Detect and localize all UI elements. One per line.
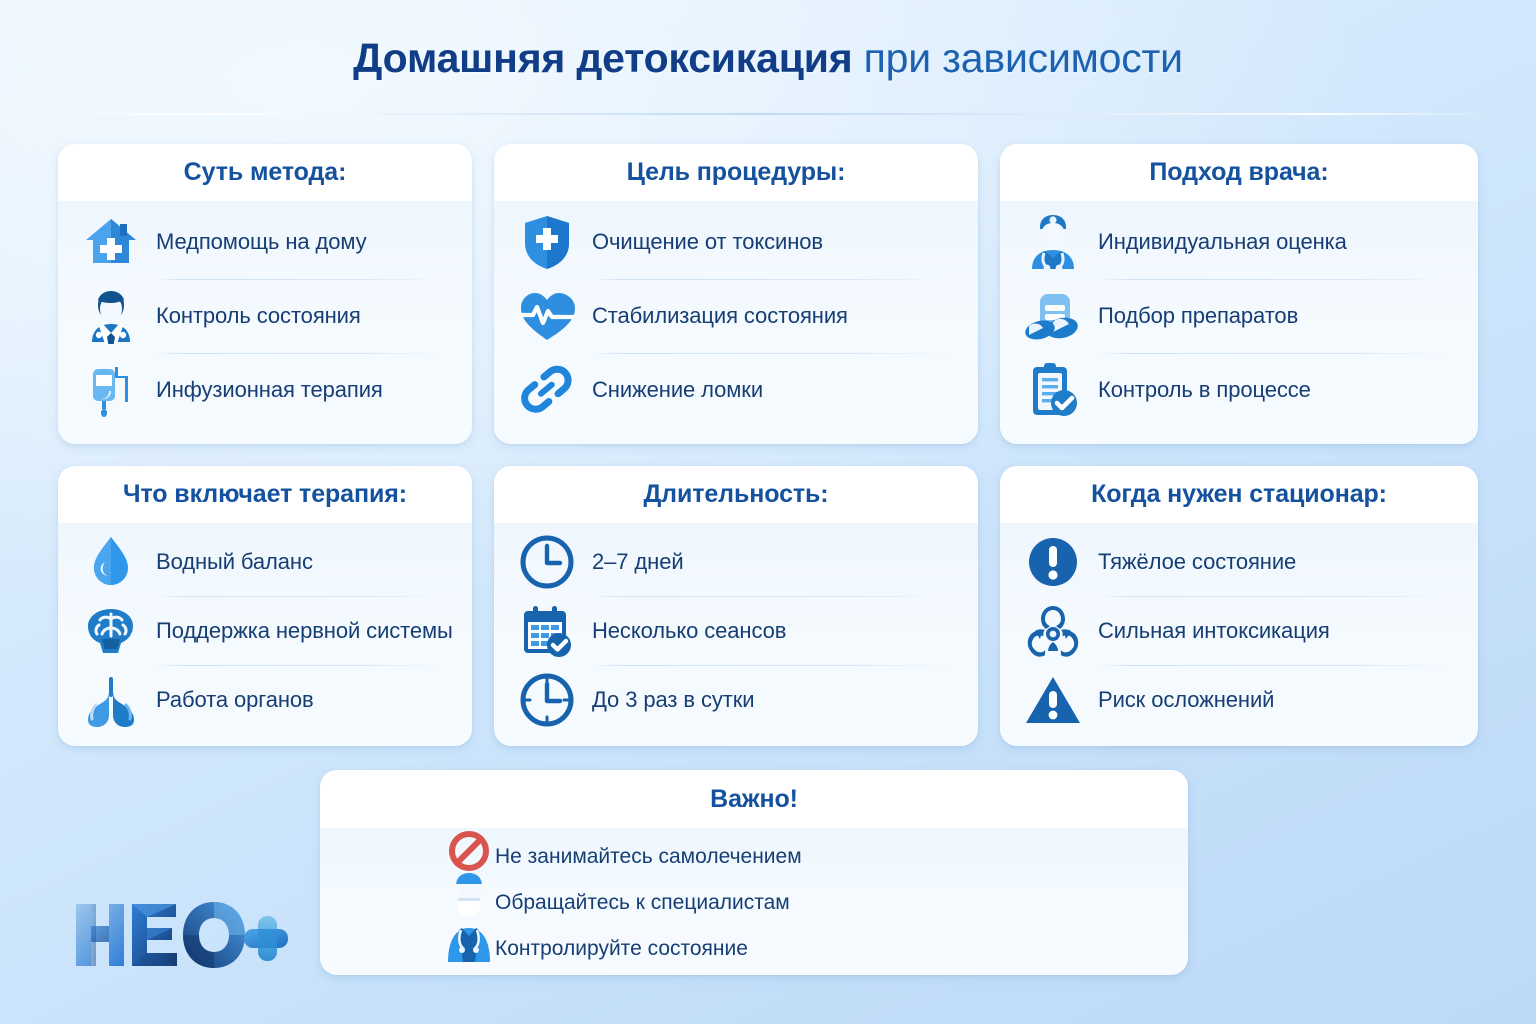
list-item-label: Несколько сеансов <box>592 618 786 644</box>
card-body: Водный баланс <box>58 523 472 734</box>
list-item-label: Подбор препаратов <box>1098 303 1298 329</box>
exclamation-circle-icon <box>1022 532 1084 592</box>
list-item-label: Не занимайтесь самолечением <box>495 845 802 869</box>
card-kogda-nuzhen-stacionar: Когда нужен стационар: Тяжёлое состояние <box>1000 466 1478 746</box>
list-item[interactable]: Несколько сеансов <box>516 596 952 665</box>
title-divider <box>42 113 1494 115</box>
card-body: Очищение от токсинов Стабилизация состоя… <box>494 201 978 427</box>
warning-triangle-icon <box>1022 670 1084 730</box>
list-item[interactable]: Обращайтесь к специалистам <box>495 880 1188 926</box>
chain-link-icon <box>516 360 578 420</box>
list-item[interactable]: Работа органов <box>80 665 446 734</box>
list-item[interactable]: Инфузионная терапия <box>80 353 446 427</box>
iv-drip-icon <box>80 360 142 420</box>
list-item-label: Контроль состояния <box>156 303 361 329</box>
list-item[interactable]: Контролируйте состояние <box>495 926 1188 972</box>
card-header: Когда нужен стационар: <box>1000 466 1478 523</box>
card-header: Длительность: <box>494 466 978 523</box>
list-item-label: Очищение от токсинов <box>592 229 823 255</box>
card-heading: Когда нужен стационар: <box>1091 480 1387 509</box>
page-header: Домашняя детоксикация при зависимости <box>0 0 1536 82</box>
list-item-label: Тяжёлое состояние <box>1098 549 1296 575</box>
card-header: Подход врача: <box>1000 144 1478 201</box>
card-vazhno: Важно! Не заним <box>320 770 1188 975</box>
card-sut-metoda: Суть метода: Медпомощь на дому <box>58 144 472 444</box>
list-item-label: Водный баланс <box>156 549 313 575</box>
card-body: 2–7 дней <box>494 523 978 734</box>
list-item-label: Контролируйте состояние <box>495 937 748 961</box>
list-item[interactable]: Не занимайтесь самолечением <box>495 834 1188 880</box>
list-item-label: Снижение ломки <box>592 377 763 403</box>
list-item[interactable]: Поддержка нервной системы <box>80 596 446 665</box>
list-item[interactable]: Индивидуальная оценка <box>1022 205 1452 279</box>
card-heading: Цель процедуры: <box>627 158 846 187</box>
card-header: Цель процедуры: <box>494 144 978 201</box>
clock-icon <box>516 670 578 730</box>
list-item-label: Медпомощь на дому <box>156 229 367 255</box>
list-item[interactable]: Сильная интоксикация <box>1022 596 1452 665</box>
list-item-label: Контроль в процессе <box>1098 377 1311 403</box>
list-item-label: Риск осложнений <box>1098 687 1274 713</box>
card-dlitelnost: Длительность: 2–7 дней <box>494 466 978 746</box>
masked-doctor-icon <box>446 870 492 967</box>
brain-icon <box>80 601 142 661</box>
card-podhod-vracha: Подход врача: Инди <box>1000 144 1478 444</box>
heart-pulse-icon <box>516 286 578 346</box>
logo-letter-o <box>183 902 245 968</box>
card-body: Индивидуальная оценка Подбор препаратов <box>1000 201 1478 427</box>
list-item[interactable]: Тяжёлое состояние <box>1022 527 1452 596</box>
list-item[interactable]: Снижение ломки <box>516 353 952 427</box>
brand-logo[interactable] <box>72 898 288 972</box>
list-item[interactable]: До 3 раз в сутки <box>516 665 952 734</box>
list-item[interactable]: Водный баланс <box>80 527 446 596</box>
clock-icon <box>516 532 578 592</box>
card-cel-procedury: Цель процедуры: Очищение от токсинов <box>494 144 978 444</box>
card-body: Медпомощь на дому Контроль состоян <box>58 201 472 427</box>
logo-plus <box>244 916 288 961</box>
card-body: Не занимайтесь самолечением Обращайтесь … <box>320 828 1188 972</box>
shield-cross-icon <box>516 212 578 272</box>
list-item-label: Инфузионная терапия <box>156 377 383 403</box>
list-item[interactable]: Риск осложнений <box>1022 665 1452 734</box>
card-chto-vkluchaet: Что включает терапия: Водный баланс <box>58 466 472 746</box>
list-item-label: Работа органов <box>156 687 314 713</box>
page-title-strong: Домашняя детоксикация <box>353 35 852 81</box>
biohazard-icon <box>1022 601 1084 661</box>
card-header: Суть метода: <box>58 144 472 201</box>
list-item-label: Стабилизация состояния <box>592 303 848 329</box>
list-item-label: 2–7 дней <box>592 549 684 575</box>
pills-medication-icon <box>1022 286 1084 346</box>
card-heading: Что включает терапия: <box>123 480 407 509</box>
doctor-stethoscope-icon <box>1022 212 1084 272</box>
list-item-label: До 3 раз в сутки <box>592 687 754 713</box>
page-title-light: при зависимости <box>852 35 1182 81</box>
list-item-label: Поддержка нервной системы <box>156 618 453 644</box>
list-item[interactable]: Очищение от токсинов <box>516 205 952 279</box>
cards-grid: Суть метода: Медпомощь на дому <box>58 144 1478 746</box>
card-header: Важно! <box>320 770 1188 828</box>
list-item-label: Обращайтесь к специалистам <box>495 891 790 915</box>
list-item[interactable]: Контроль в процессе <box>1022 353 1452 427</box>
calendar-check-icon <box>516 601 578 661</box>
home-medical-icon <box>80 212 142 272</box>
list-item[interactable]: Медпомощь на дому <box>80 205 446 279</box>
lungs-icon <box>80 670 142 730</box>
card-heading: Длительность: <box>643 480 828 509</box>
doctor-person-icon <box>80 286 142 346</box>
list-item[interactable]: 2–7 дней <box>516 527 952 596</box>
card-header: Что включает терапия: <box>58 466 472 523</box>
card-body: Тяжёлое состояние <box>1000 523 1478 734</box>
list-item[interactable]: Контроль состояния <box>80 279 446 353</box>
page-title: Домашняя детоксикация при зависимости <box>0 34 1536 82</box>
list-item-label: Сильная интоксикация <box>1098 618 1330 644</box>
card-heading: Суть метода: <box>184 158 347 187</box>
logo-letter-n <box>76 904 124 966</box>
water-drop-icon <box>80 532 142 592</box>
list-item[interactable]: Подбор препаратов <box>1022 279 1452 353</box>
list-item-label: Индивидуальная оценка <box>1098 229 1347 255</box>
list-item[interactable]: Стабилизация состояния <box>516 279 952 353</box>
card-heading: Важно! <box>710 785 798 814</box>
card-heading: Подход врача: <box>1149 158 1328 187</box>
clipboard-check-icon <box>1022 360 1084 420</box>
logo-letter-e <box>132 904 177 966</box>
